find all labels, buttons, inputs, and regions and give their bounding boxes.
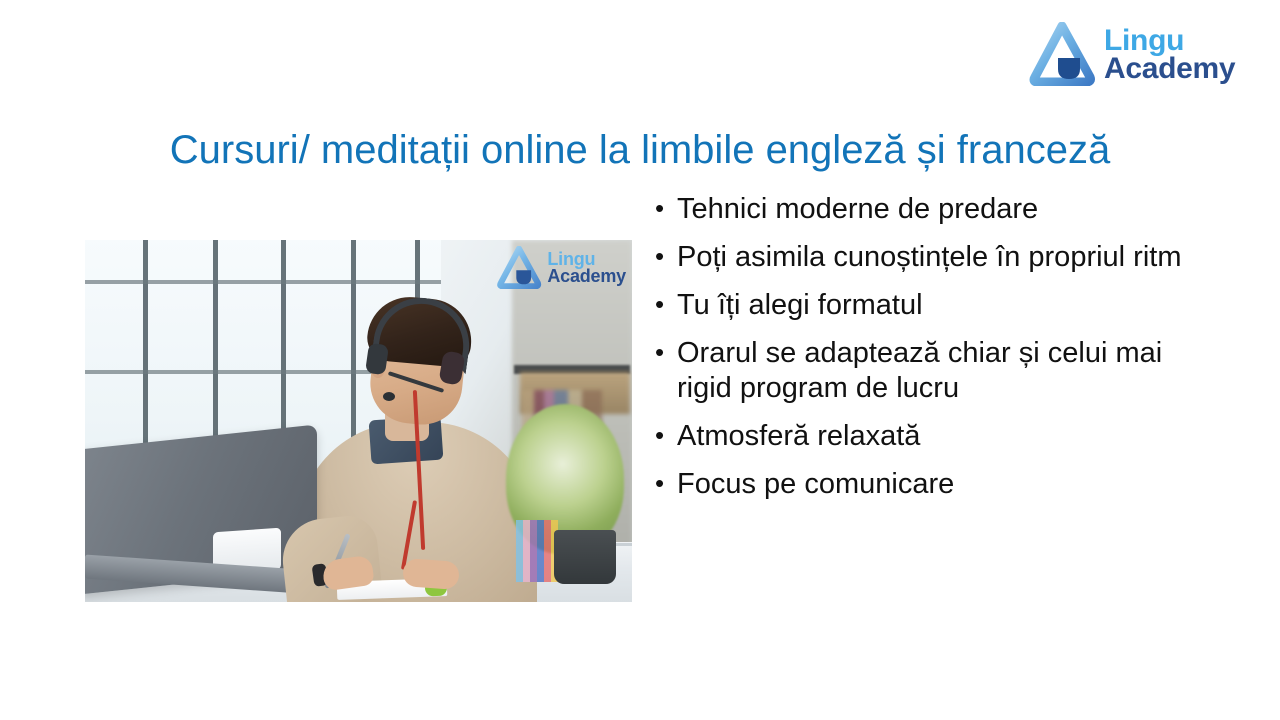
list-item-label: Poți asimila cunoștințele în propriul ri… [677, 240, 1215, 275]
photo-watermark-logo: Lingu Academy [496, 246, 626, 289]
list-item-label: Tehnici moderne de predare [677, 192, 1215, 227]
list-item: • Tu îți alegi formatul [655, 288, 1215, 323]
list-item-label: Orarul se adaptează chiar și celui mai r… [677, 336, 1215, 406]
bullet-list: • Tehnici moderne de predare • Poți asim… [655, 192, 1215, 516]
brand-logo: Lingu Academy [1028, 18, 1254, 90]
bullet-marker-icon: • [655, 419, 677, 452]
slide-title: Cursuri/ meditații online la limbile eng… [60, 127, 1220, 173]
list-item: • Atmosferă relaxată [655, 419, 1215, 454]
photo-watermark-word-lingu: Lingu [547, 251, 626, 268]
brand-word-lingu: Lingu [1104, 27, 1235, 55]
list-item-label: Tu îți alegi formatul [677, 288, 1215, 323]
presentation-slide: Lingu Academy Cursuri/ meditații online … [0, 0, 1280, 720]
photo-color-card [516, 520, 558, 582]
photo-window-mullion [85, 280, 441, 284]
bullet-marker-icon: • [655, 192, 677, 225]
photo-plant-pot [554, 530, 616, 584]
slide-photo: Lingu Academy [85, 240, 632, 602]
bullet-marker-icon: • [655, 336, 677, 369]
list-item: • Poți asimila cunoștințele în propriul … [655, 240, 1215, 275]
brand-wordmark: Lingu Academy [1104, 25, 1235, 83]
list-item-label: Focus pe comunicare [677, 467, 1215, 502]
bullet-marker-icon: • [655, 240, 677, 273]
photo-person-hand [402, 558, 460, 590]
photo-headset-microphone [383, 392, 395, 401]
list-item-label: Atmosferă relaxată [677, 419, 1215, 454]
bullet-marker-icon: • [655, 288, 677, 321]
list-item: • Orarul se adaptează chiar și celui mai… [655, 336, 1215, 406]
lingu-academy-triangle-icon [496, 246, 542, 289]
lingu-academy-triangle-icon [1028, 22, 1096, 86]
list-item: • Tehnici moderne de predare [655, 192, 1215, 227]
brand-word-academy: Academy [1104, 55, 1235, 83]
photo-watermark-word-academy: Academy [547, 268, 626, 285]
photo-watermark-wordmark: Lingu Academy [547, 251, 626, 285]
bullet-marker-icon: • [655, 467, 677, 500]
list-item: • Focus pe comunicare [655, 467, 1215, 502]
